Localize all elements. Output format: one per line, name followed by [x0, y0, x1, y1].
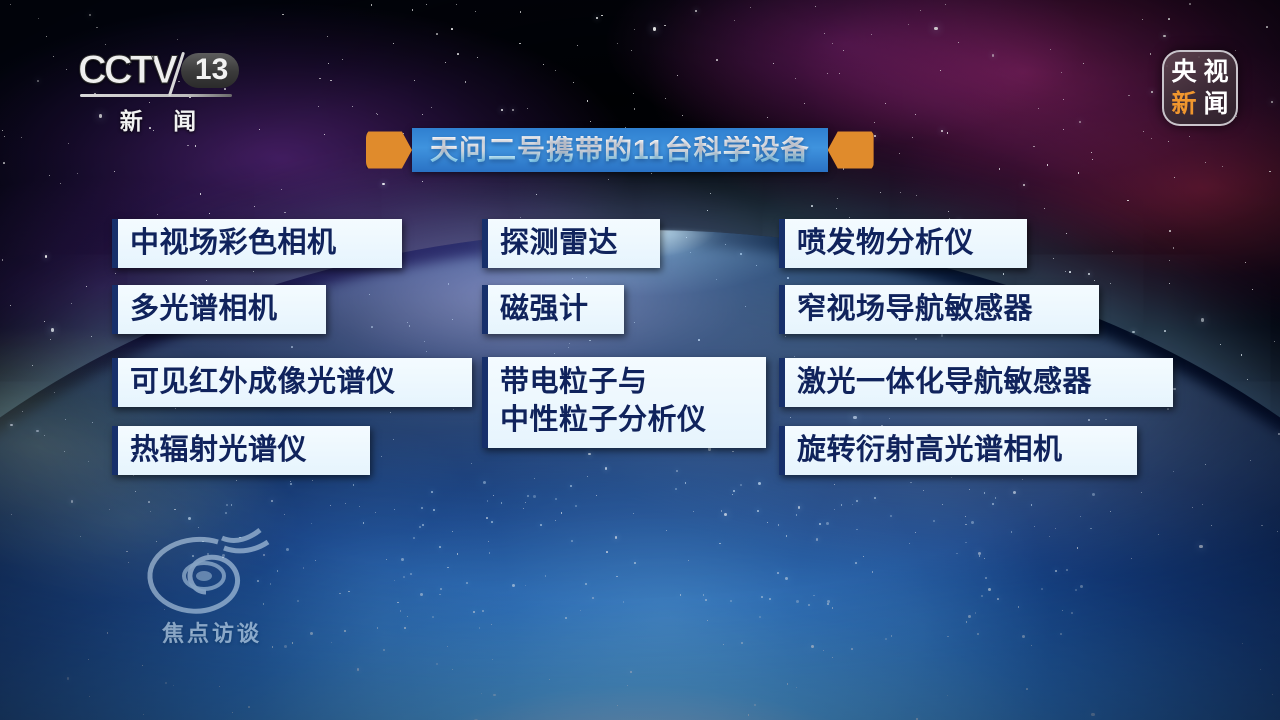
equipment-label: 喷发物分析仪 — [797, 226, 974, 260]
equipment-chip: 旋转衍射高光谱相机 — [779, 426, 1137, 475]
news-badge-char-4: 闻 — [1203, 92, 1228, 117]
equipment-label: 中视场彩色相机 — [130, 226, 337, 260]
broadcast-screen: CCTV 13 新 闻 央 视 新 闻 天问二号携带的11台科学设备 中视场彩色… — [0, 0, 1280, 720]
equipment-chip: 激光一体化导航敏感器 — [779, 358, 1173, 407]
cctv-channel-number: 13 — [195, 53, 228, 86]
cctv-logo-row: CCTV 13 — [78, 48, 254, 92]
cctv-channel-subtitle: 新 闻 — [78, 102, 238, 136]
banner-body: 天问二号携带的11台科学设备 — [412, 128, 828, 172]
cctv-underline-rule — [80, 94, 232, 97]
equipment-chip: 带电粒子与 中性粒子分析仪 — [482, 357, 766, 448]
equipment-label: 探测雷达 — [500, 226, 618, 260]
banner-right-arrow-icon — [828, 128, 874, 172]
news-badge-char-1: 央 — [1171, 60, 1196, 85]
title-banner: 天问二号携带的11台科学设备 — [366, 128, 874, 172]
cctv-channel-number-capsule: 13 — [181, 53, 239, 88]
program-watermark: 焦点访谈 — [126, 524, 296, 650]
equipment-chip: 中视场彩色相机 — [112, 219, 402, 268]
banner-title: 天问二号携带的11台科学设备 — [430, 136, 810, 164]
equipment-label: 多光谱相机 — [130, 292, 278, 326]
equipment-label: 热辐射光谱仪 — [130, 433, 307, 467]
equipment-label: 旋转衍射高光谱相机 — [797, 433, 1063, 467]
equipment-label: 可见红外成像光谱仪 — [130, 365, 396, 399]
equipment-label: 激光一体化导航敏感器 — [797, 365, 1092, 399]
banner-left-arrow-icon — [366, 128, 412, 172]
equipment-chip: 多光谱相机 — [112, 285, 326, 334]
equipment-chip: 窄视场导航敏感器 — [779, 285, 1099, 334]
equipment-chip: 可见红外成像光谱仪 — [112, 358, 472, 407]
equipment-label: 带电粒子与 中性粒子分析仪 — [500, 364, 707, 439]
cctv13-logo: CCTV 13 新 闻 — [78, 48, 254, 136]
equipment-chip: 喷发物分析仪 — [779, 219, 1027, 268]
equipment-label: 窄视场导航敏感器 — [797, 292, 1033, 326]
watermark-program-name: 焦点访谈 — [132, 616, 292, 648]
equipment-label: 磁强计 — [500, 292, 589, 326]
cctv-news-badge: 央 视 新 闻 — [1162, 50, 1238, 126]
equipment-chip: 探测雷达 — [482, 219, 660, 268]
focus-swirl-icon — [126, 524, 296, 624]
equipment-chip: 热辐射光谱仪 — [112, 426, 370, 475]
news-badge-char-2: 视 — [1203, 60, 1228, 85]
news-badge-char-3: 新 — [1171, 92, 1196, 117]
cctv-wordmark: CCTV — [78, 48, 175, 93]
equipment-chip: 磁强计 — [482, 285, 624, 334]
